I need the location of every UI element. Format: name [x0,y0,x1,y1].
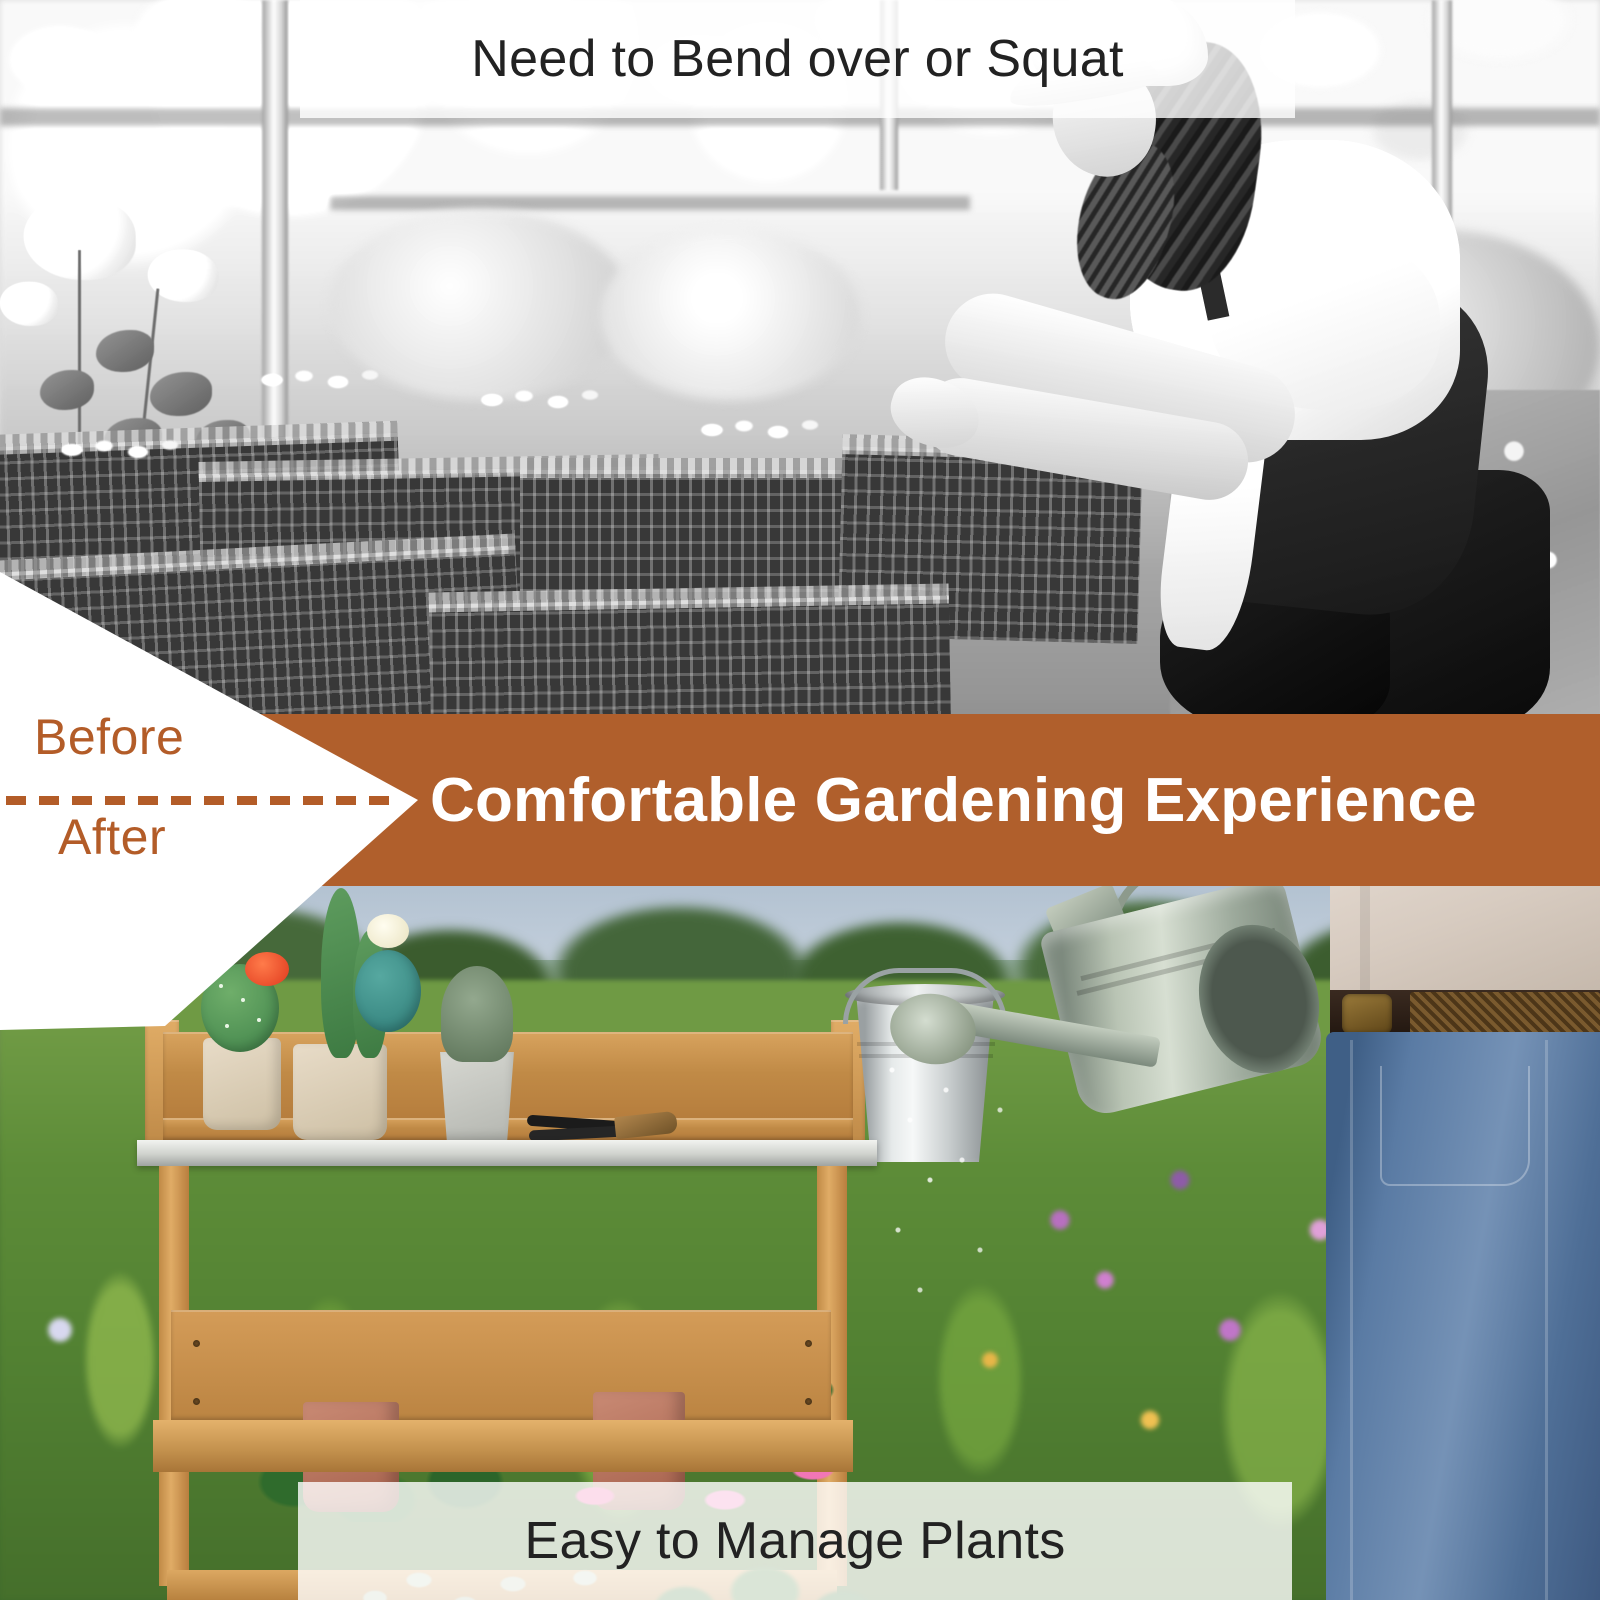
jeans-seam [1350,1040,1353,1600]
greenhouse-beam [330,196,970,210]
belt-buckle [1342,994,1392,1034]
headline-text: Comfortable Gardening Experience [430,714,1590,886]
before-after-arrow: Before After [0,560,420,1040]
terracotta-pot [293,1044,387,1140]
top-caption-text: Need to Bend over or Squat [471,29,1123,89]
plant-crate-row [429,595,951,730]
top-caption-banner: Need to Bend over or Squat [300,0,1295,118]
succulent [441,966,513,1062]
bench-worktop [137,1140,877,1166]
arrow-dashed-divider [6,796,398,805]
blurred-shrub [600,230,860,400]
jeans-seam [1545,1040,1548,1600]
screw [805,1340,812,1347]
grey-planter [435,1052,519,1140]
bottom-caption-banner: Easy to Manage Plants [298,1482,1292,1600]
screw [193,1398,200,1405]
bottom-caption-text: Easy to Manage Plants [524,1511,1065,1571]
screw [193,1340,200,1347]
bench-middle-shelf [153,1420,853,1472]
jeans-pocket [1380,1066,1530,1186]
shear-blade [614,1111,678,1139]
pruning-shears [527,1114,677,1140]
water-droplets [880,1050,1110,1350]
belt-weave [1410,992,1600,1034]
before-label: Before [34,708,184,766]
product-comparison-image: Comfortable Gardening Experience Before … [0,0,1600,1600]
seedlings [60,440,360,500]
rose-bloom [0,282,58,326]
after-label: After [58,808,166,866]
